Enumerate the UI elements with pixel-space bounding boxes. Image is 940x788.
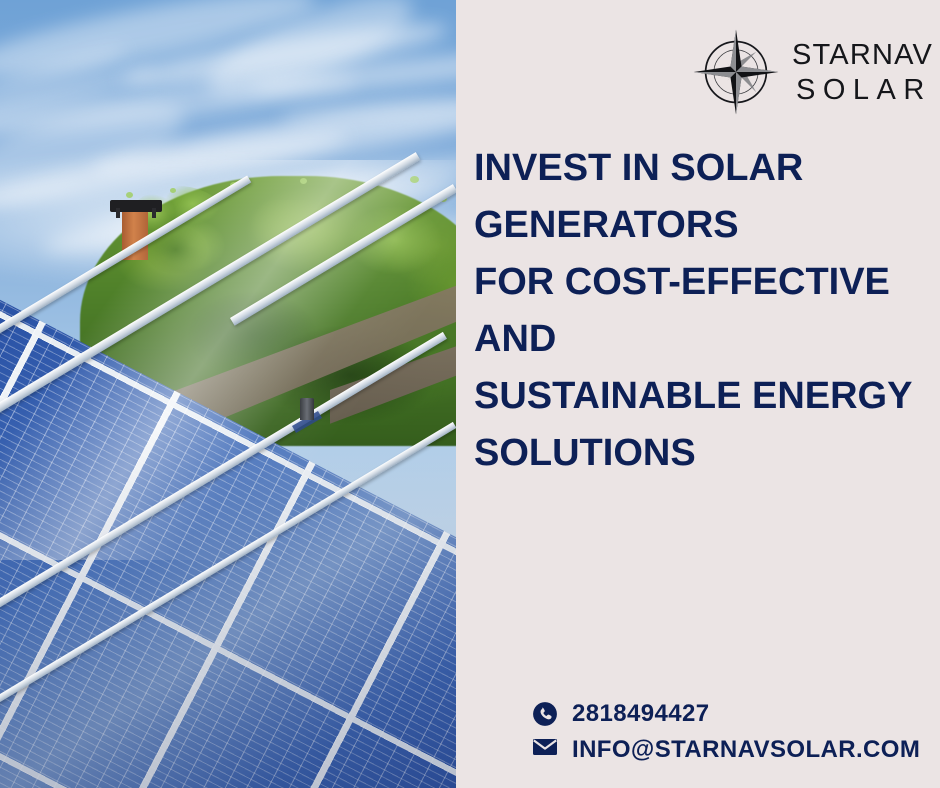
brand-logo[interactable]: STARNAV SOLAR [690, 26, 933, 118]
leaf-highlight [300, 178, 307, 184]
leaf-highlight [126, 192, 133, 198]
contact-row-email[interactable]: INFO@STARNAVSOLAR.COM [532, 732, 920, 768]
headline-line-3: FOR COST-EFFECTIVE [474, 254, 924, 311]
roof-vent [300, 398, 314, 420]
contact-row-phone[interactable]: 2818494427 [532, 696, 920, 732]
phone-number: 2818494427 [572, 700, 709, 728]
headline-line-4: AND [474, 311, 924, 368]
leaf-highlight [170, 188, 176, 193]
logo-brand-subname: SOLAR [792, 76, 933, 105]
logo-brand-name: STARNAV [792, 41, 933, 70]
email-address: INFO@STARNAVSOLAR.COM [572, 736, 920, 764]
headline-line-1: INVEST IN SOLAR [474, 140, 924, 197]
envelope-icon [532, 737, 558, 763]
solar-panels-photo [0, 0, 456, 788]
chimney-post [116, 208, 120, 218]
content-panel: STARNAV SOLAR INVEST IN SOLAR GENERATORS… [456, 0, 940, 788]
headline-line-2: GENERATORS [474, 197, 924, 254]
page-title: INVEST IN SOLAR GENERATORS FOR COST-EFFE… [474, 140, 924, 482]
headline-line-5: SUSTAINABLE ENERGY [474, 368, 924, 425]
solar-ad-poster: STARNAV SOLAR INVEST IN SOLAR GENERATORS… [0, 0, 940, 788]
leaf-highlight [410, 176, 419, 183]
phone-circle-icon [532, 701, 558, 727]
contact-block: 2818494427 INFO@STARNAVSOLAR.COM [532, 696, 920, 768]
compass-rose-icon [690, 26, 782, 118]
headline-line-6: SOLUTIONS [474, 425, 924, 482]
chimney-post [152, 208, 156, 218]
